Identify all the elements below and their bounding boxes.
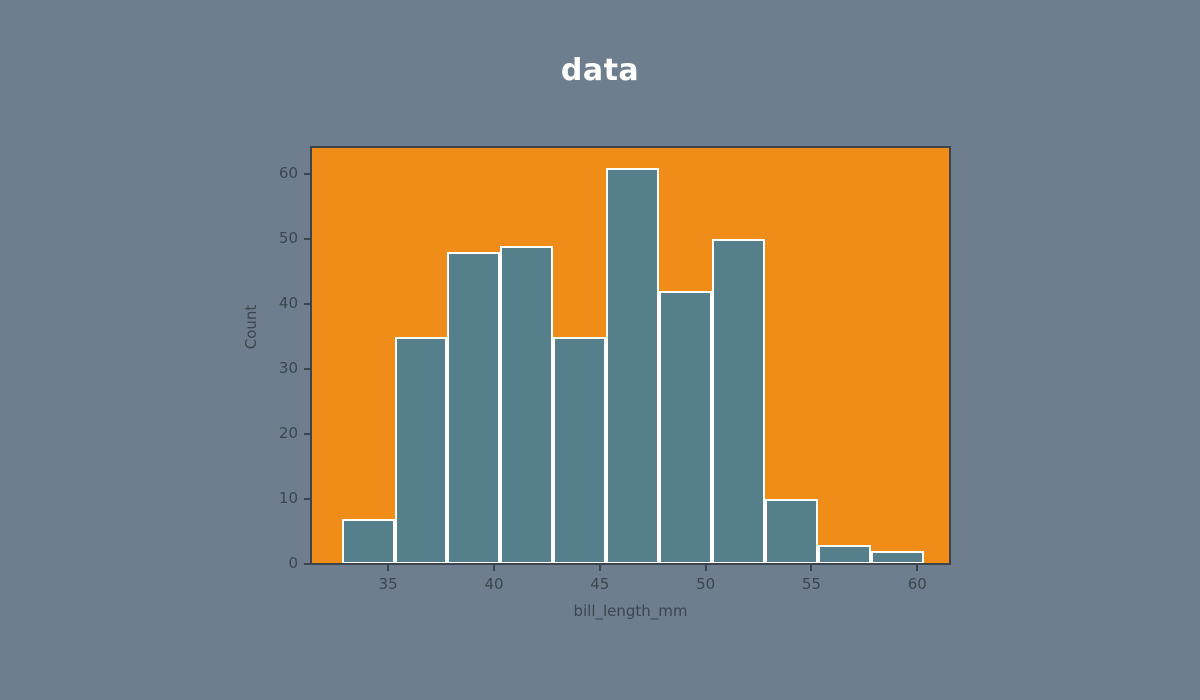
y-axis-label: Count <box>242 287 260 367</box>
histogram-bar <box>553 337 606 564</box>
y-tick-mark <box>304 433 310 435</box>
axis-spine-top <box>310 146 951 148</box>
y-tick-label: 10 <box>252 489 298 507</box>
histogram-bar <box>342 519 395 564</box>
x-tick-label: 55 <box>781 575 841 593</box>
figure-canvas: data 0102030405060 354045505560 bill_len… <box>0 0 1200 700</box>
x-tick-label: 60 <box>887 575 947 593</box>
axis-spine-right <box>949 146 951 565</box>
y-tick-mark <box>304 498 310 500</box>
histogram-bar <box>606 168 659 564</box>
x-tick-mark <box>599 565 601 571</box>
histogram-bar <box>659 291 712 564</box>
x-tick-mark <box>387 565 389 571</box>
y-tick-mark <box>304 368 310 370</box>
axis-spine-left <box>310 146 312 565</box>
y-tick-mark <box>304 563 310 565</box>
y-tick-mark <box>304 238 310 240</box>
x-tick-label: 40 <box>464 575 524 593</box>
x-tick-mark <box>810 565 812 571</box>
histogram-bar <box>447 252 500 564</box>
chart-title: data <box>0 53 1200 88</box>
x-axis-label: bill_length_mm <box>312 602 949 620</box>
y-tick-mark <box>304 173 310 175</box>
histogram-bar <box>712 239 765 564</box>
axis-spine-bottom <box>310 563 951 565</box>
x-tick-mark <box>916 565 918 571</box>
x-tick-mark <box>705 565 707 571</box>
plot-area <box>312 147 949 564</box>
histogram-bar <box>765 499 818 564</box>
histogram-bars <box>312 147 949 564</box>
x-tick-label: 35 <box>358 575 418 593</box>
x-tick-mark <box>493 565 495 571</box>
y-tick-label: 50 <box>252 229 298 247</box>
y-tick-label: 0 <box>252 554 298 572</box>
y-tick-mark <box>304 303 310 305</box>
x-tick-label: 50 <box>676 575 736 593</box>
histogram-bar <box>395 337 448 564</box>
histogram-bar <box>818 545 871 564</box>
y-tick-label: 60 <box>252 164 298 182</box>
x-tick-label: 45 <box>570 575 630 593</box>
y-tick-label: 20 <box>252 424 298 442</box>
histogram-bar <box>500 246 553 564</box>
